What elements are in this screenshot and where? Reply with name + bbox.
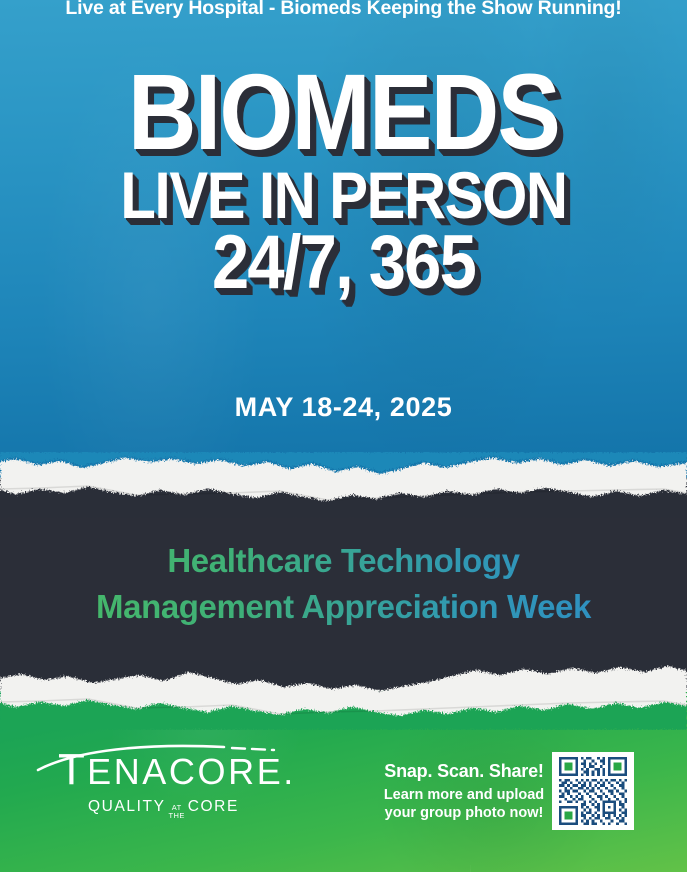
qr-code-icon bbox=[557, 757, 629, 825]
top-banner-text: Live at Every Hospital - Biomeds Keeping… bbox=[0, 0, 687, 20]
subheadline-line-1: Healthcare Technology bbox=[0, 538, 687, 584]
logo-tagline-quality: QUALITY bbox=[88, 799, 166, 815]
headline-group: BIOMEDS LIVE IN PERSON 24/7, 365 bbox=[0, 62, 687, 298]
logo-wordmark: TENACORE. bbox=[38, 748, 308, 792]
logo-wordmark-rest: ENACORE. bbox=[87, 751, 296, 792]
headline-24-7-365: 24/7, 365 bbox=[41, 228, 646, 298]
cta-subtitle-line-2: your group photo now! bbox=[378, 804, 550, 822]
poster-canvas: Live at Every Hospital - Biomeds Keeping… bbox=[0, 0, 687, 872]
logo-tagline-core: CORE bbox=[188, 799, 239, 815]
cta-text-block: Snap. Scan. Share! Learn more and upload… bbox=[378, 760, 550, 822]
logo-tagline-the: THE bbox=[169, 812, 185, 820]
logo-tagline-stack: AT THE bbox=[169, 804, 185, 820]
qr-code[interactable] bbox=[552, 752, 634, 830]
tenacore-logo: TENACORE. QUALITY AT THE CORE bbox=[38, 748, 308, 821]
logo-tagline: QUALITY AT THE CORE bbox=[38, 799, 308, 821]
cta-title: Snap. Scan. Share! bbox=[378, 760, 550, 783]
event-date: MAY 18-24, 2025 bbox=[0, 392, 687, 423]
subheadline-line-2: Management Appreciation Week bbox=[0, 584, 687, 630]
subheadline-group: Healthcare Technology Management Appreci… bbox=[0, 538, 687, 629]
logo-wordmark-initial: T bbox=[58, 745, 87, 794]
cta-subtitle-line-1: Learn more and upload bbox=[378, 786, 550, 804]
headline-live-in-person: LIVE IN PERSON bbox=[41, 165, 646, 226]
headline-biomeds: BIOMEDS bbox=[41, 62, 646, 161]
